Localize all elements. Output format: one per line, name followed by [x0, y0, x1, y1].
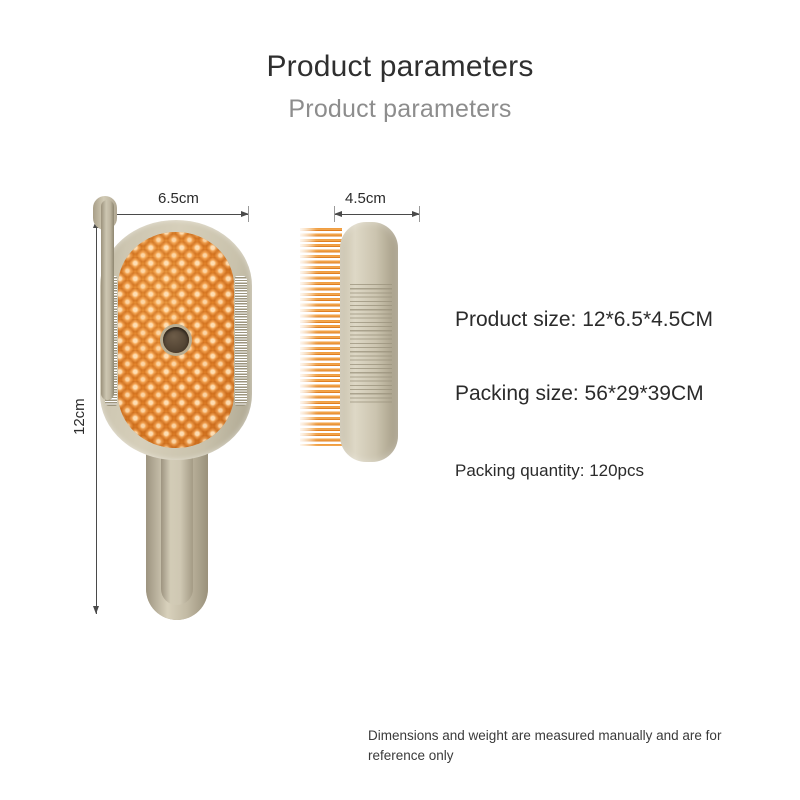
page-subtitle: Product parameters — [0, 95, 800, 124]
page-title: Product parameters — [0, 50, 800, 84]
brush-body-side — [340, 222, 398, 462]
disclaimer-text: Dimensions and weight are measured manua… — [368, 726, 768, 765]
side-ribbed-texture — [350, 284, 392, 404]
dimension-arrow-width-front — [104, 214, 249, 215]
dimension-label-width-side: 4.5cm — [345, 190, 386, 207]
bristle-edge-fade — [300, 228, 316, 446]
dimension-arrow-height — [96, 220, 97, 614]
dimension-tick-left-side — [334, 206, 335, 222]
center-hole — [163, 327, 189, 353]
dimension-tick-right-side — [419, 206, 420, 222]
silicone-bristle-pad — [118, 232, 234, 448]
spec-packing-size: Packing size: 56*29*39CM — [455, 382, 704, 406]
spec-packing-quantity: Packing quantity: 120pcs — [455, 461, 644, 481]
dimension-arrow-width-side — [334, 214, 420, 215]
dimension-label-height: 12cm — [71, 398, 88, 435]
spec-product-size: Product size: 12*6.5*4.5CM — [455, 308, 713, 332]
brush-front-view — [100, 220, 252, 460]
comb-teeth-right — [235, 276, 247, 406]
product-parameters-page: Product parameters Product parameters 6.… — [0, 0, 800, 800]
brush-side-view — [300, 222, 420, 462]
brush-handle-front-shading — [146, 452, 208, 620]
brush-handle-side — [101, 200, 114, 400]
dimension-label-width-front: 6.5cm — [158, 190, 199, 207]
